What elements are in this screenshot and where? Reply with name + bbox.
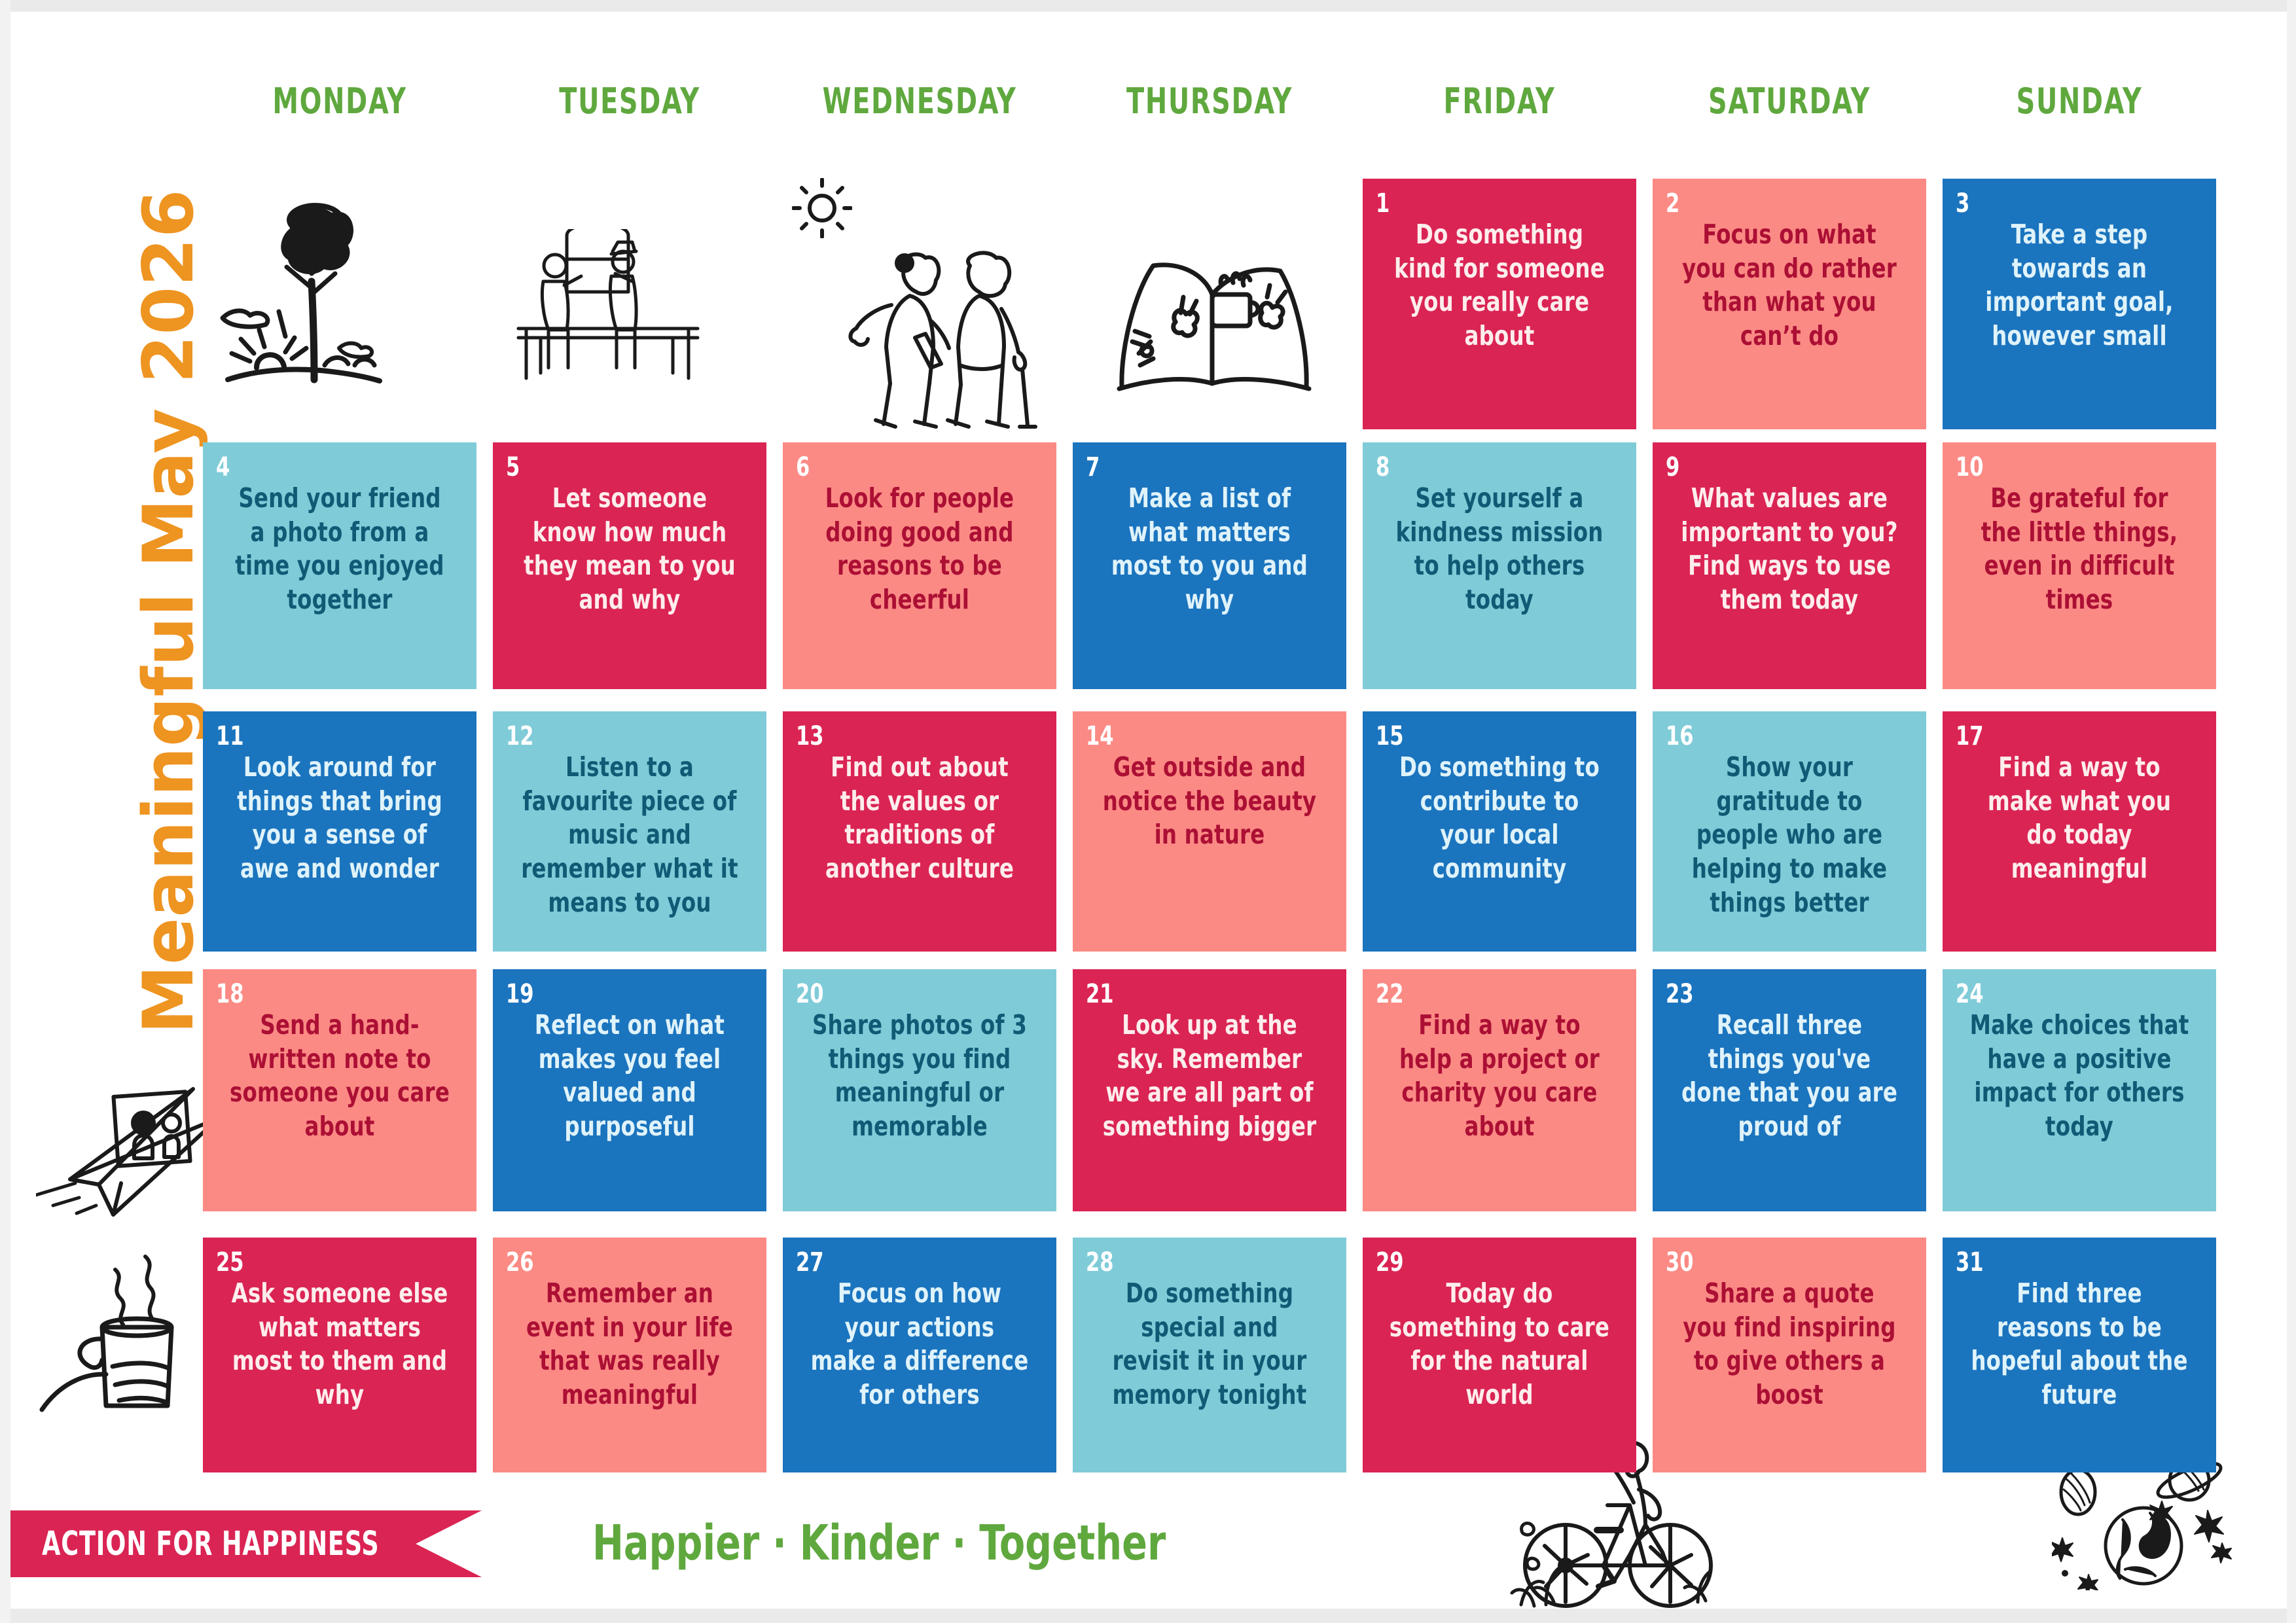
day-action-text: Let someone know how much they mean to y… [518, 482, 741, 617]
day-number: 30 [1666, 1249, 1878, 1275]
day-number: 7 [1086, 454, 1299, 480]
day-number: 29 [1376, 1249, 1588, 1275]
day-action-text: Find out about the values or traditions … [808, 751, 1031, 886]
calendar-day-cell[interactable]: 24Make choices that have a positive impa… [1943, 969, 2216, 1211]
calendar-day-cell[interactable]: 20Share photos of 3 things you find mean… [783, 969, 1056, 1211]
day-header-saturday: SATURDAY [1677, 80, 1902, 122]
day-number: 28 [1086, 1249, 1299, 1275]
day-action-text: Send a hand-written note to someone you … [228, 1008, 451, 1144]
calendar-day-cell[interactable]: 31Find three reasons to be hopeful about… [1943, 1238, 2216, 1472]
planets-stars-illustration [2052, 1453, 2235, 1590]
day-number: 21 [1086, 981, 1299, 1007]
day-action-text: Share a quote you find inspiring to give… [1678, 1277, 1901, 1412]
day-header-monday: MONDAY [228, 80, 452, 122]
day-action-text: Set yourself a kindness mission to help … [1388, 482, 1611, 617]
day-action-text: Focus on what you can do rather than wha… [1678, 218, 1901, 353]
day-number: 26 [506, 1249, 719, 1275]
sun-illustration [792, 178, 852, 238]
calendar-day-cell[interactable]: 13Find out about the values or tradition… [783, 711, 1056, 952]
day-action-text: Look up at the sky. Remember we are all … [1098, 1008, 1321, 1144]
day-action-text: Share photos of 3 things you find meanin… [808, 1008, 1031, 1144]
day-number: 24 [1956, 981, 2168, 1007]
calendar-day-cell[interactable]: 5Let someone know how much they mean to … [493, 442, 766, 689]
day-header-wednesday: WEDNESDAY [808, 80, 1032, 122]
day-action-text: Show your gratitude to people who are he… [1678, 751, 1901, 919]
page-frame-left [0, 0, 10, 1623]
calendar-day-cell[interactable]: 12Listen to a favourite piece of music a… [493, 711, 766, 952]
day-number: 5 [506, 454, 719, 480]
day-number: 23 [1666, 981, 1878, 1007]
calendar-day-cell[interactable]: 6Look for people doing good and reasons … [783, 442, 1056, 689]
calendar-day-cell[interactable]: 7Make a list of what matters most to you… [1073, 442, 1346, 689]
day-header-thursday: THURSDAY [1098, 80, 1322, 122]
calendar-page: Meaningful May 2026 MONDAYTUESDAYWEDNESD… [0, 0, 2296, 1623]
day-header-friday: FRIDAY [1388, 80, 1612, 122]
day-action-text: What values are important to you? Find w… [1678, 482, 1901, 617]
day-action-text: Take a step towards an important goal, h… [1968, 218, 2191, 353]
day-action-text: Make a list of what matters most to you … [1098, 482, 1321, 617]
calendar-day-cell[interactable]: 16Show your gratitude to people who are … [1653, 711, 1926, 952]
day-action-text: Find a way to help a project or charity … [1388, 1008, 1611, 1144]
day-number: 27 [796, 1249, 1009, 1275]
calendar-day-cell[interactable]: 23Recall three things you've done that y… [1653, 969, 1926, 1211]
day-number: 18 [216, 981, 429, 1007]
calendar-day-cell[interactable]: 21Look up at the sky. Remember we are al… [1073, 969, 1346, 1211]
day-number: 16 [1666, 723, 1878, 749]
page-frame-top [0, 0, 2296, 12]
day-number: 20 [796, 981, 1009, 1007]
day-action-text: Find three reasons to be hopeful about t… [1968, 1277, 2191, 1412]
tree-sunrise-illustration [216, 190, 386, 386]
day-number: 8 [1376, 454, 1588, 480]
day-number: 4 [216, 454, 429, 480]
day-number: 19 [506, 981, 719, 1007]
day-action-text: Do something kind for someone you really… [1388, 218, 1611, 353]
day-action-text: Look for people doing good and reasons t… [808, 482, 1031, 617]
day-header-tuesday: TUESDAY [518, 80, 742, 122]
day-number: 1 [1376, 190, 1588, 217]
day-number: 12 [506, 723, 719, 749]
calendar-day-cell[interactable]: 3Take a step towards an important goal, … [1943, 179, 2216, 429]
day-action-text: Reflect on what makes you feel valued an… [518, 1008, 741, 1144]
page-frame-right [2287, 0, 2296, 1623]
calendar-day-cell[interactable]: 2Focus on what you can do rather than wh… [1653, 179, 1926, 429]
brand-label: ACTION FOR HAPPINESS [42, 1525, 379, 1563]
day-action-text: Recall three things you've done that you… [1678, 1008, 1901, 1144]
calendar-day-cell[interactable]: 25Ask someone else what matters most to … [203, 1238, 476, 1472]
calendar-day-cell[interactable]: 15Do something to contribute to your loc… [1363, 711, 1636, 952]
page-title-wrapper: Meaningful May 2026 [24, 131, 154, 1047]
calendar-day-cell[interactable]: 18Send a hand-written note to someone yo… [203, 969, 476, 1211]
day-number: 9 [1666, 454, 1878, 480]
day-action-text: Ask someone else what matters most to th… [228, 1277, 451, 1412]
calendar-day-cell[interactable]: 29Today do something to care for the nat… [1363, 1238, 1636, 1472]
tagline: Happier · Kinder · Together [592, 1515, 1166, 1571]
day-action-text: Send your friend a photo from a time you… [228, 482, 451, 617]
day-action-text: Make choices that have a positive impact… [1968, 1008, 2191, 1144]
day-number: 31 [1956, 1249, 2168, 1275]
day-number: 13 [796, 723, 1009, 749]
calendar-day-cell[interactable]: 26Remember an event in your life that wa… [493, 1238, 766, 1472]
day-action-text: Be grateful for the little things, even … [1968, 482, 2191, 617]
calendar-day-cell[interactable]: 11Look around for things that bring you … [203, 711, 476, 952]
day-action-text: Remember an event in your life that was … [518, 1277, 741, 1412]
day-action-text: Get outside and notice the beauty in nat… [1098, 751, 1321, 852]
calendar-day-cell[interactable]: 14Get outside and notice the beauty in n… [1073, 711, 1346, 952]
action-for-happiness-banner: ACTION FOR HAPPINESS [10, 1510, 482, 1577]
day-action-text: Find a way to make what you do today mea… [1968, 751, 2191, 886]
day-number: 17 [1956, 723, 2168, 749]
two-women-walking-illustration [844, 249, 1041, 432]
calendar-day-cell[interactable]: 27Focus on how your actions make a diffe… [783, 1238, 1056, 1472]
day-number: 3 [1956, 190, 2168, 217]
day-number: 22 [1376, 981, 1588, 1007]
calendar-day-cell[interactable]: 19Reflect on what makes you feel valued … [493, 969, 766, 1211]
journal-writing-illustration [1113, 242, 1322, 412]
day-action-text: Look around for things that bring you a … [228, 751, 451, 886]
day-action-text: Do something special and revisit it in y… [1098, 1277, 1321, 1412]
calendar-day-cell[interactable]: 4Send your friend a photo from a time yo… [203, 442, 476, 689]
day-action-text: Today do something to care for the natur… [1388, 1277, 1611, 1412]
calendar-day-cell[interactable]: 30Share a quote you find inspiring to gi… [1653, 1238, 1926, 1472]
day-number: 15 [1376, 723, 1588, 749]
day-action-text: Focus on how your actions make a differe… [808, 1277, 1031, 1412]
page-frame-bottom [0, 1609, 2296, 1623]
day-number: 25 [216, 1249, 429, 1275]
day-action-text: Do something to contribute to your local… [1388, 751, 1611, 886]
calendar-day-cell[interactable]: 17Find a way to make what you do today m… [1943, 711, 2216, 952]
calendar-day-cell[interactable]: 22Find a way to help a project or charit… [1363, 969, 1636, 1211]
day-number: 11 [216, 723, 429, 749]
day-number: 14 [1086, 723, 1299, 749]
bench-conversation-illustration [504, 229, 713, 386]
day-header-sunday: SUNDAY [1967, 80, 2192, 122]
page-title: Meaningful May 2026 [128, 189, 209, 1034]
calendar-day-cell[interactable]: 10Be grateful for the little things, eve… [1943, 442, 2216, 689]
day-number: 2 [1666, 190, 1878, 217]
day-number: 6 [796, 454, 1009, 480]
hands-holding-mug-illustration [33, 1250, 203, 1420]
day-action-text: Listen to a favourite piece of music and… [518, 751, 741, 919]
calendar-day-cell[interactable]: 1Do something kind for someone you reall… [1363, 179, 1636, 429]
calendar-day-cell[interactable]: 9What values are important to you? Find … [1653, 442, 1926, 689]
calendar-day-cell[interactable]: 8Set yourself a kindness mission to help… [1363, 442, 1636, 689]
day-number: 10 [1956, 454, 2168, 480]
calendar-day-cell[interactable]: 28Do something special and revisit it in… [1073, 1238, 1346, 1472]
